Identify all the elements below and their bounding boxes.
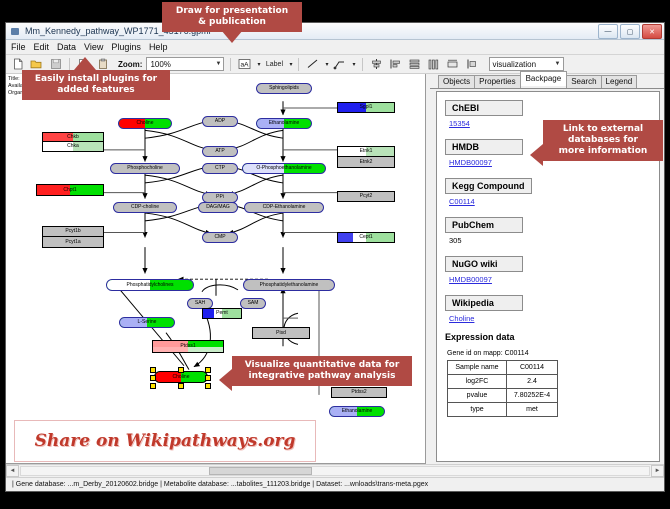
gene-node-chkb[interactable]: Chkb: [42, 132, 104, 142]
zoom-value: 100%: [150, 60, 170, 69]
node-label: Cept1: [359, 235, 372, 240]
toolbar-separator-1: [69, 58, 70, 71]
menu-data[interactable]: Data: [57, 42, 76, 52]
node-label: Pcyt1a: [65, 240, 80, 245]
callout-plugins: Easily install plugins for added feature…: [22, 70, 170, 100]
gene-node-pemt[interactable]: Pemt: [202, 308, 242, 319]
scroll-right-icon[interactable]: ►: [651, 465, 664, 477]
side-panel-tabs: Objects Properties Backpage Search Legen…: [430, 74, 664, 89]
node-label: Phosphatidylcholines: [127, 283, 174, 288]
gene-node-pcyt1a[interactable]: Pcyt1a: [42, 237, 104, 248]
zoom-combo[interactable]: 100% ▼: [146, 57, 224, 71]
backpage-header-nugo: NuGO wiki: [445, 256, 523, 272]
tab-legend[interactable]: Legend: [601, 75, 638, 88]
toolbar-separator-3: [298, 58, 299, 71]
callout-visualize: Visualize quantitative data for integrat…: [232, 356, 412, 386]
node-label: CDP-Ethanolamine: [263, 205, 306, 210]
table-row: log2FC 2.4: [448, 375, 558, 389]
label-icon[interactable]: Label: [264, 57, 284, 72]
table-row: type met: [448, 403, 558, 417]
gene-node-pcyt2[interactable]: Pcyt2: [337, 191, 395, 202]
text-icon[interactable]: aA: [237, 57, 252, 72]
callout-draw-line2: & publication: [168, 17, 296, 28]
metabolite-node-sam[interactable]: SAM: [240, 298, 266, 309]
maximize-button[interactable]: ▢: [620, 24, 640, 39]
backpage-header-hmdb: HMDB: [445, 139, 523, 155]
backpage-header-wikipedia: Wikipedia: [445, 295, 523, 311]
gene-node-etnk1[interactable]: Etnk1: [337, 146, 395, 157]
callout-draw-line1: Draw for presentation: [168, 6, 296, 17]
selection-handle-nw[interactable]: [150, 367, 156, 373]
node-label: Pcyt1b: [65, 229, 80, 234]
selection-handle-n[interactable]: [178, 367, 184, 373]
expr-val-sample-name: C00114: [507, 361, 558, 375]
backpage-value-pubchem: 305: [449, 236, 659, 245]
metabolite-node-o-phosphoethanolamine[interactable]: O-Phosphoethanolamine: [242, 163, 326, 174]
metabolite-node-phosphatidylethanolamine[interactable]: Phosphatidylethanolamine: [243, 279, 335, 291]
menu-edit[interactable]: Edit: [34, 42, 50, 52]
scroll-track[interactable]: [20, 466, 650, 476]
expr-key-type: type: [448, 403, 507, 417]
tab-search[interactable]: Search: [566, 75, 601, 88]
callout-link-line3: more information: [549, 146, 657, 157]
backpage-link-kegg[interactable]: C00114: [449, 197, 659, 206]
metabolite-node-ethanolamine-top[interactable]: Ethanolamine: [256, 118, 312, 129]
node-label: O-Phosphoethanolamine: [256, 166, 311, 171]
expr-key-sample-name: Sample name: [448, 361, 507, 375]
menu-view[interactable]: View: [84, 42, 103, 52]
gene-node-pisd[interactable]: Pisd: [252, 327, 310, 339]
status-bar: | Gene database: ...m_Derby_20120602.bri…: [6, 477, 664, 491]
app-icon: [10, 26, 21, 37]
node-label: Chka: [67, 144, 79, 149]
node-label: Phosphocholine: [127, 166, 163, 171]
gene-id-on-mapp: Gene id on mapp: C00114: [447, 350, 659, 357]
node-label: SAM: [248, 301, 259, 306]
horizontal-scrollbar[interactable]: ◄ ►: [6, 464, 664, 477]
node-label: SAH: [195, 301, 205, 306]
scroll-thumb[interactable]: [209, 467, 311, 475]
scroll-left-icon[interactable]: ◄: [6, 465, 19, 477]
node-label: DAG/MAG: [206, 205, 230, 210]
node-label: Ptdss2: [351, 390, 366, 395]
expression-table: Sample name C00114 log2FC 2.4 pvalue 7.8…: [447, 360, 558, 417]
callout-plugins-line2: added features: [28, 85, 164, 96]
metabolite-node-phosphatidylcholines[interactable]: Phosphatidylcholines: [106, 279, 194, 291]
table-row: pvalue 7.80252E-4: [448, 389, 558, 403]
node-label: CMP: [214, 235, 225, 240]
menu-file[interactable]: File: [11, 42, 26, 52]
node-label: Chpt1: [63, 188, 76, 193]
node-label: ADP: [215, 119, 225, 124]
align-center-icon[interactable]: [369, 57, 384, 72]
callout-draw-arrow-icon: [221, 30, 243, 43]
metabolite-node-atp[interactable]: ATP: [202, 146, 238, 157]
expr-val-type: met: [507, 403, 558, 417]
metabolite-node-ethanolamine-bottom[interactable]: Ethanolamine: [329, 406, 385, 417]
node-label: Pcyt2: [360, 194, 373, 199]
callout-share: Share on Wikipathways.org: [14, 420, 316, 462]
toolbar-separator-4: [362, 58, 363, 71]
node-label: CTP: [215, 166, 225, 171]
menu-help[interactable]: Help: [149, 42, 168, 52]
node-label: Chkb: [67, 135, 79, 140]
tab-objects[interactable]: Objects: [438, 75, 475, 88]
expr-key-log2fc: log2FC: [448, 375, 507, 389]
gene-node-chka[interactable]: Chka: [42, 142, 104, 152]
callout-visualize-arrow-icon: [219, 369, 232, 391]
chevron-down-icon: ▼: [215, 61, 221, 67]
tab-properties[interactable]: Properties: [474, 75, 520, 88]
metabolite-node-choline-top[interactable]: Choline: [118, 118, 172, 129]
selection-handle-s[interactable]: [178, 383, 184, 389]
node-fill-left-strip: [203, 309, 214, 318]
interaction-icon[interactable]: [332, 57, 347, 72]
node-label: PPi: [216, 195, 224, 200]
expression-data-title: Expression data: [445, 332, 659, 342]
node-fill-left-strip: [338, 233, 353, 242]
metabolite-node-adp[interactable]: ADP: [202, 116, 238, 127]
callout-link-arrow-icon: [530, 144, 543, 166]
gene-node-chpt1[interactable]: Chpt1: [36, 184, 104, 196]
zoom-label: Zoom:: [118, 60, 142, 69]
node-label: ATP: [215, 149, 224, 154]
node-label: Phosphatidylethanolamine: [260, 283, 319, 288]
backpage-header-kegg: Kegg Compound: [445, 178, 532, 194]
callout-visualize-line2: integrative pathway analysis: [238, 371, 406, 382]
minimize-button[interactable]: —: [598, 24, 618, 39]
callout-plugins-arrow-icon: [74, 57, 96, 70]
gene-node-etnk2[interactable]: Etnk2: [337, 157, 395, 168]
node-label: Ethanolamine: [342, 409, 373, 414]
node-label: Ptdss1: [180, 344, 195, 349]
metabolite-node-cdp-choline[interactable]: CDP-choline: [113, 202, 177, 213]
svg-text:aA: aA: [241, 61, 250, 68]
backpage-header-pubchem: PubChem: [445, 217, 523, 233]
node-label: Choline: [173, 375, 190, 380]
callout-share-text: Share on Wikipathways.org: [35, 431, 296, 451]
metabolite-node-cdp-ethanolamine[interactable]: CDP-Ethanolamine: [244, 202, 324, 213]
expr-key-pvalue: pvalue: [448, 389, 507, 403]
callout-link: Link to external databases for more info…: [543, 120, 663, 161]
line-dropdown-caret-icon[interactable]: ▾: [325, 61, 328, 68]
window-controls: — ▢ ✕: [598, 24, 662, 39]
label-dropdown-caret-icon[interactable]: ▾: [289, 61, 292, 68]
metabolite-node-sphingolipids[interactable]: Sphingolipids: [256, 83, 312, 94]
node-label: Sgpl1: [360, 105, 373, 110]
gene-node-sgpl1[interactable]: Sgpl1: [337, 102, 395, 113]
screenshot-root: Mm_Kennedy_pathway_WP1771_45176.gpml — ▢…: [0, 0, 670, 509]
distribute-horizontal-icon[interactable]: [426, 57, 441, 72]
node-label: Pisd: [276, 331, 286, 336]
visualization-combo[interactable]: visualization ▼: [489, 57, 564, 71]
table-row: Sample name C00114: [448, 361, 558, 375]
gene-node-cept1[interactable]: Cept1: [337, 232, 395, 243]
gene-node-ptdss2[interactable]: Ptdss2: [331, 387, 387, 398]
callout-visualize-line1: Visualize quantitative data for: [238, 360, 406, 371]
text-dropdown-caret-icon[interactable]: ▾: [257, 61, 260, 68]
selection-handle-e[interactable]: [205, 375, 211, 381]
backpage-header-chebi: ChEBI: [445, 100, 523, 116]
node-label: Etnk2: [360, 160, 373, 165]
expr-val-log2fc: 2.4: [507, 375, 558, 389]
label-tool-text: Label: [266, 61, 283, 68]
metabolite-node-ctp[interactable]: CTP: [202, 163, 238, 174]
node-label: Ethanolamine: [269, 121, 300, 126]
backpage-link-nugo[interactable]: HMDB00097: [449, 275, 659, 284]
align-left-icon[interactable]: [388, 57, 403, 72]
menu-plugins[interactable]: Plugins: [111, 42, 141, 52]
node-label: CDP-choline: [131, 205, 159, 210]
metabolite-node-dagmag[interactable]: DAG/MAG: [198, 202, 238, 213]
node-label: Etnk1: [360, 149, 373, 154]
expr-val-pvalue: 7.80252E-4: [507, 389, 558, 403]
callout-plugins-line1: Easily install plugins for: [28, 74, 164, 85]
callout-draw: Draw for presentation & publication: [162, 2, 302, 32]
backpage-link-wikipedia[interactable]: Choline: [449, 314, 659, 323]
order-icon[interactable]: [464, 57, 479, 72]
gene-node-ptdss1[interactable]: Ptdss1: [152, 340, 224, 353]
node-label: Pemt: [216, 311, 228, 316]
node-label: L-Serine: [138, 320, 157, 325]
distribute-vertical-icon[interactable]: [407, 57, 422, 72]
gene-node-pcyt1b[interactable]: Pcyt1b: [42, 226, 104, 237]
metabolite-node-cmp[interactable]: CMP: [202, 232, 238, 243]
selection-handle-sw[interactable]: [150, 383, 156, 389]
line-icon[interactable]: [305, 57, 320, 72]
node-label: Sphingolipids: [269, 86, 299, 91]
interaction-dropdown-caret-icon[interactable]: ▾: [352, 61, 355, 68]
tab-backpage[interactable]: Backpage: [520, 71, 568, 86]
group-icon[interactable]: [445, 57, 460, 72]
pathway-canvas-pane[interactable]: Title: Availa Organ: [6, 74, 426, 464]
pathway-canvas[interactable]: Sphingolipids Choline Ethanolamine ADP: [6, 74, 425, 463]
chevron-down-icon: ▼: [555, 61, 561, 67]
node-label: Choline: [137, 121, 154, 126]
status-text: | Gene database: ...m_Derby_20120602.bri…: [12, 481, 428, 488]
selection-handle-se[interactable]: [205, 383, 211, 389]
menu-bar: File Edit Data View Plugins Help: [6, 40, 664, 55]
close-button[interactable]: ✕: [642, 24, 662, 39]
callout-link-line2: databases for: [549, 135, 657, 146]
callout-link-line1: Link to external: [549, 124, 657, 135]
title-bar: Mm_Kennedy_pathway_WP1771_45176.gpml — ▢…: [6, 23, 664, 40]
metabolite-node-l-serine-left[interactable]: L-Serine: [119, 317, 175, 328]
visualization-value: visualization: [493, 60, 537, 69]
selection-handle-ne[interactable]: [205, 367, 211, 373]
selection-handle-w[interactable]: [150, 375, 156, 381]
metabolite-node-phosphocholine[interactable]: Phosphocholine: [110, 163, 180, 174]
toolbar-separator-2: [230, 58, 231, 71]
